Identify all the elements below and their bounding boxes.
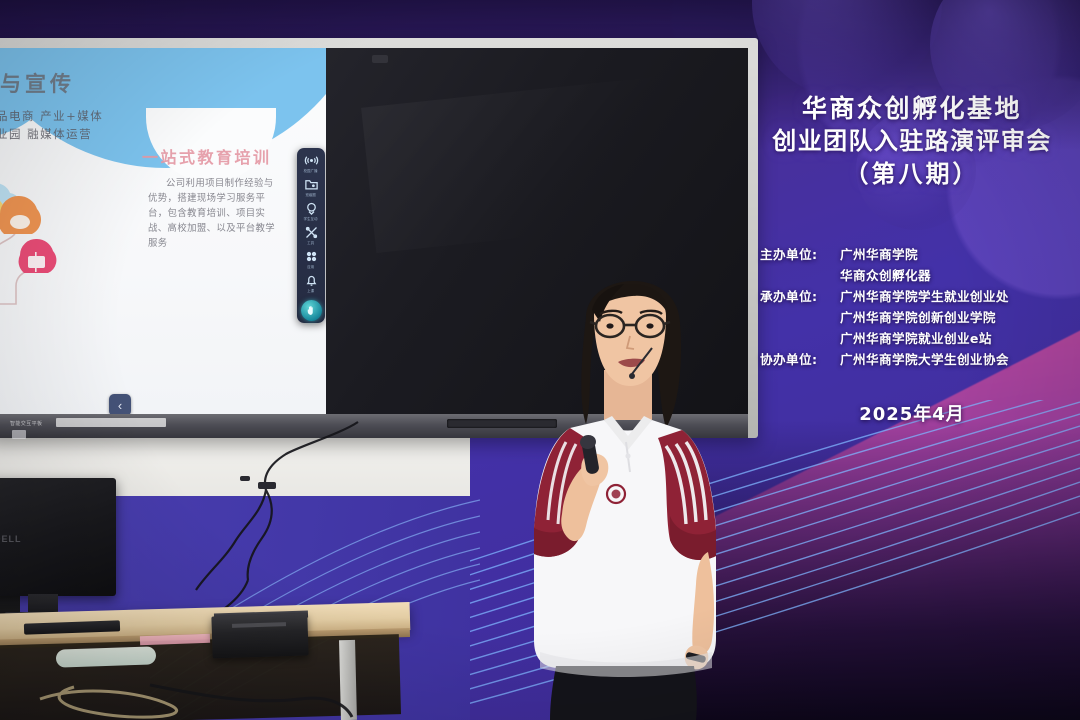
folder-share-icon (304, 177, 319, 192)
slide-heading: 与宣传 (0, 68, 75, 98)
monitor-brand-logo: DELL (0, 534, 22, 544)
organizer-key: 协办单位: (760, 349, 840, 370)
organizer-value: 华商众创孵化器 (840, 265, 1072, 286)
presentation-slide[interactable]: 与宣传 品电商 产业+媒体 业园 融媒体运营 (0, 48, 326, 414)
hand-touch-icon[interactable] (301, 300, 322, 321)
toolbar-item-class-group[interactable]: 班级圈 (299, 177, 323, 198)
screen-glare (361, 77, 670, 253)
toolbar-label: 学生互动 (304, 217, 318, 222)
slide-bullet: 品电商 产业+媒体 (0, 108, 103, 124)
event-title-line-2: 创业团队入驻路演评审会 (752, 125, 1072, 158)
slide-section-title: 一站式教育培训 (142, 144, 272, 168)
organizer-row: 协办单位: 广州华商学院大学生创业协会 (760, 349, 1072, 370)
organizer-value: 广州华商学院 (840, 244, 1072, 265)
toolbar-item-tools[interactable]: 工具 (299, 225, 323, 246)
toolbar-label: 班级圈 (306, 193, 316, 198)
event-date: 2025年4月 (752, 400, 1072, 426)
slide-body-text: 公司利用项目制作经验与优势，搭建现场学习服务平台，包含教育培训、项目实战、高校加… (148, 176, 276, 251)
floor-cables (0, 655, 420, 720)
organizer-key: 承办单位: (760, 286, 840, 307)
toolbar-label: 校园广播 (304, 169, 318, 174)
organizer-value: 广州华商学院创新创业学院 (840, 307, 1072, 328)
toolbar-label: 应用 (308, 265, 315, 270)
organizer-row: 承办单位: 广州华商学院创新创业学院 (760, 307, 1072, 328)
apps-grid-icon (304, 249, 319, 264)
toolbar-item-student-activity[interactable]: 学生互动 (299, 201, 323, 222)
toolbar-item-apps[interactable]: 应用 (299, 249, 323, 270)
event-title-line-3: （第八期） (752, 158, 1072, 191)
bell-icon (304, 273, 319, 288)
whiteboard-toolbar[interactable]: 校园广播 班级圈 (297, 148, 325, 323)
toolbar-label: 工具 (308, 241, 315, 246)
slide-back-button[interactable]: ‹ (109, 394, 131, 414)
event-title-block: 华商众创孵化基地 创业团队入驻路演评审会 （第八期） (752, 92, 1072, 191)
student-activity-icon (304, 201, 319, 216)
slide-bullet: 业园 融媒体运营 (0, 126, 92, 142)
organizer-row: 承办单位: 广州华商学院就业创业e站 (760, 328, 1072, 349)
broadcast-icon (304, 153, 319, 168)
computer-monitor: DELL (0, 478, 116, 596)
organizer-row: 承办单位: 广州华商学院学生就业创业处 (760, 286, 1072, 307)
event-title-line-1: 华商众创孵化基地 (752, 92, 1072, 125)
organizer-value: 广州华商学院学生就业创业处 (840, 286, 1072, 307)
organizer-key: 主办单位: (760, 244, 840, 265)
organizer-row: 主办单位: 广州华商学院 (760, 244, 1072, 265)
toolbar-item-broadcast[interactable]: 校园广播 (299, 153, 323, 174)
tools-icon (304, 225, 319, 240)
popup-cable-box[interactable] (211, 614, 308, 659)
presentation-scene-photo: 与宣传 品电商 产业+媒体 业园 融媒体运营 (0, 0, 1080, 720)
organizer-value: 广州华商学院就业创业e站 (840, 328, 1072, 349)
organizer-row: 主办单位: 华商众创孵化器 (760, 265, 1072, 286)
organizer-value: 广州华商学院大学生创业协会 (840, 349, 1072, 370)
organizer-block: 主办单位: 广州华商学院 主办单位: 华商众创孵化器 承办单位: 广州华商学院学… (760, 244, 1072, 370)
toolbar-label: 上课 (308, 289, 315, 294)
display-speaker (372, 55, 388, 63)
presenter-person (500, 252, 760, 720)
slide-cloud-illustration (0, 180, 102, 330)
toolbar-item-class-bell[interactable]: 上课 (299, 273, 323, 294)
